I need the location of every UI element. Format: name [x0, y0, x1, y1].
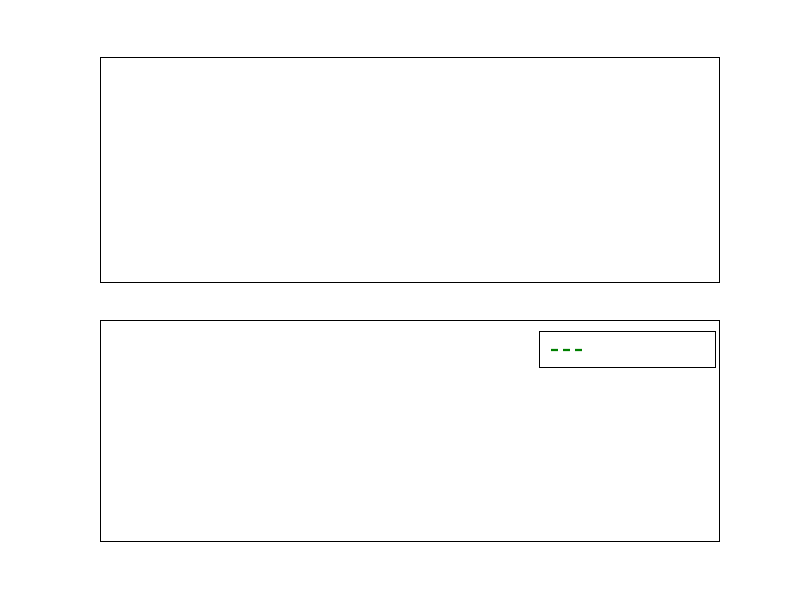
legend [539, 331, 716, 368]
histogram-bars-plot [101, 58, 719, 282]
figure-canvas [0, 0, 800, 600]
top-axes-differential-histogram [100, 57, 720, 283]
mag-limit-dashed-line-icon [550, 344, 584, 356]
